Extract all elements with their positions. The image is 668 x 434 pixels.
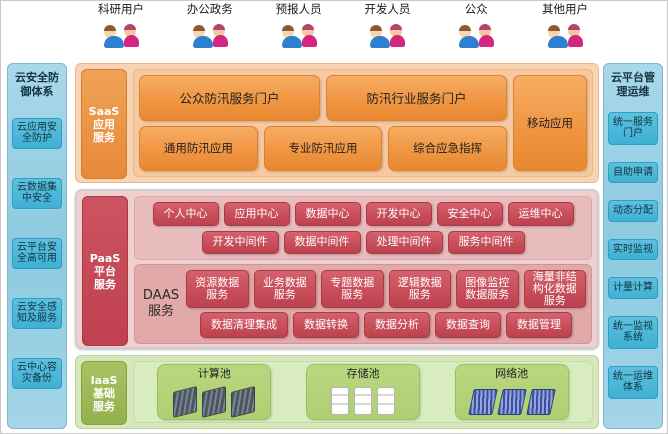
paas-middleware-development[interactable]: 开发中间件: [202, 231, 279, 255]
daas-service-image-monitor[interactable]: 图像监控数据服务: [456, 270, 519, 308]
paas-center-personal[interactable]: 个人中心: [153, 202, 219, 226]
paas-middleware-service[interactable]: 服务中间件: [448, 231, 525, 255]
user-role-label: 其他用户: [542, 3, 588, 16]
cloud-management-item[interactable]: 统一服务门户: [608, 112, 658, 145]
daas-op-management[interactable]: 数据管理: [506, 312, 572, 338]
cloud-security-item[interactable]: 云数据集中安全: [12, 178, 62, 209]
cloud-management-item-list: 统一服务门户 自助申请 动态分配 实时监视 计量计算 统一监视系统 统一运维体系: [608, 103, 658, 407]
server-rack-icon: [231, 386, 255, 418]
daas-op-transform[interactable]: 数据转换: [293, 312, 359, 338]
saas-content: 公众防汛服务门户 防汛行业服务门户 通用防汛应用 专业防汛应用 综合应急指挥 移…: [133, 69, 593, 177]
iaas-label-line2: 基础: [93, 387, 115, 400]
paas-platform-section: 个人中心 应用中心 数据中心 开发中心 安全中心 运维中心 开发中间件 数据中间…: [134, 196, 592, 260]
cloud-security-item[interactable]: 云中心容灾备份: [12, 358, 62, 389]
iaas-layer: IaaS 基础 服务 计算池 存储池: [75, 355, 599, 429]
paas-middleware-data[interactable]: 数据中间件: [284, 231, 361, 255]
cloud-management-panel-title: 云平台管理运维: [608, 68, 658, 103]
iaas-layer-label: IaaS 基础 服务: [81, 361, 127, 425]
users-pair-icon: [101, 18, 141, 48]
saas-label-line1: SaaS: [89, 105, 120, 118]
saas-app-emergency[interactable]: 综合应急指挥: [388, 126, 507, 172]
storage-pool-label: 存储池: [346, 365, 379, 381]
daas-op-analysis[interactable]: 数据分析: [364, 312, 430, 338]
disk-storage-icon: [354, 387, 372, 415]
server-rack-icon: [173, 386, 197, 418]
network-pool-label: 网络池: [495, 365, 528, 381]
server-rack-icon: [202, 386, 226, 418]
user-role-item: 科研用户: [79, 3, 163, 48]
paas-center-development[interactable]: 开发中心: [366, 202, 432, 226]
user-role-item: 开发人员: [345, 3, 429, 48]
paas-center-data[interactable]: 数据中心: [295, 202, 361, 226]
disk-storage-icon: [331, 387, 349, 415]
daas-op-cleaning[interactable]: 数据清理集成: [200, 312, 288, 338]
users-pair-icon: [545, 18, 585, 48]
users-pair-icon: [279, 18, 319, 48]
network-pool-icons: [471, 381, 553, 415]
paas-label-line3: 服务: [94, 278, 116, 291]
daas-section: DAAS 服务 资源数据服务 业务数据服务 专题数据服务 逻辑数据服务 图像监控…: [134, 264, 592, 344]
saas-layer: SaaS 应用 服务 公众防汛服务门户 防汛行业服务门户 通用防汛应用 专业防汛…: [75, 63, 599, 183]
daas-operation-row: 数据清理集成 数据转换 数据分析 数据查询 数据管理: [186, 312, 586, 338]
compute-pool[interactable]: 计算池: [157, 364, 271, 420]
daas-service-resource[interactable]: 资源数据服务: [186, 270, 249, 308]
daas-service-row: 资源数据服务 业务数据服务 专题数据服务 逻辑数据服务 图像监控数据服务 海量非…: [186, 270, 586, 308]
cloud-security-panel: 云安全防御体系 云应用安全防护 云数据集中安全 云平台安全高可用 云安全感知及服…: [7, 63, 67, 429]
iaas-label-line3: 服务: [93, 400, 115, 413]
paas-layer: PaaS 平台 服务 个人中心 应用中心 数据中心 开发中心 安全中心 运维中心…: [75, 189, 599, 349]
cloud-management-panel: 云平台管理运维 统一服务门户 自助申请 动态分配 实时监视 计量计算 统一监视系…: [603, 63, 663, 429]
saas-portal-row: 公众防汛服务门户 防汛行业服务门户: [139, 75, 507, 121]
saas-label-line3: 服务: [93, 131, 115, 144]
cloud-security-item-list: 云应用安全防护 云数据集中安全 云平台安全高可用 云安全感知及服务 云中心容灾备…: [12, 103, 62, 403]
paas-layer-label: PaaS 平台 服务: [82, 196, 128, 346]
architecture-diagram: 科研用户 办公政务 预报人员 开发人员: [0, 0, 668, 434]
paas-center-application[interactable]: 应用中心: [224, 202, 290, 226]
network-switch-icon: [497, 389, 527, 415]
saas-application-row: 通用防汛应用 专业防汛应用 综合应急指挥: [139, 126, 507, 172]
daas-content: 资源数据服务 业务数据服务 专题数据服务 逻辑数据服务 图像监控数据服务 海量非…: [186, 270, 586, 338]
paas-center-row: 个人中心 应用中心 数据中心 开发中心 安全中心 运维中心: [140, 202, 586, 226]
paas-center-security[interactable]: 安全中心: [437, 202, 503, 226]
users-pair-icon: [367, 18, 407, 48]
daas-service-logical[interactable]: 逻辑数据服务: [389, 270, 452, 308]
user-role-label: 预报人员: [276, 3, 322, 16]
saas-app-mobile[interactable]: 移动应用: [513, 75, 587, 171]
compute-pool-icons: [173, 381, 255, 415]
daas-service-unstructured[interactable]: 海量非结构化数据服务: [524, 270, 587, 308]
user-role-label: 公众: [465, 3, 488, 16]
daas-label-line2: 服务: [148, 304, 174, 320]
saas-app-general[interactable]: 通用防汛应用: [139, 126, 258, 172]
paas-label-line1: PaaS: [90, 252, 121, 265]
user-role-label: 办公政务: [187, 3, 233, 16]
cloud-management-item[interactable]: 动态分配: [608, 200, 658, 222]
users-pair-icon: [456, 18, 496, 48]
user-role-item: 办公政务: [168, 3, 252, 48]
saas-label-line2: 应用: [93, 118, 115, 131]
daas-label-line1: DAAS: [143, 288, 179, 304]
cloud-management-item[interactable]: 统一监视系统: [608, 316, 658, 349]
network-switch-icon: [468, 389, 498, 415]
users-pair-icon: [190, 18, 230, 48]
cloud-management-item[interactable]: 统一运维体系: [608, 366, 658, 399]
cloud-security-panel-title: 云安全防御体系: [12, 68, 62, 103]
user-role-row: 科研用户 办公政务 预报人员 开发人员: [79, 3, 607, 58]
saas-layer-label: SaaS 应用 服务: [81, 69, 127, 179]
daas-op-query[interactable]: 数据查询: [435, 312, 501, 338]
saas-portal-public[interactable]: 公众防汛服务门户: [139, 75, 320, 121]
user-role-item: 公众: [434, 3, 518, 48]
saas-portal-industry[interactable]: 防汛行业服务门户: [326, 75, 507, 121]
saas-application-grid: 公众防汛服务门户 防汛行业服务门户 通用防汛应用 专业防汛应用 综合应急指挥: [139, 75, 507, 171]
user-role-item: 预报人员: [257, 3, 341, 48]
paas-center-operations[interactable]: 运维中心: [508, 202, 574, 226]
network-pool[interactable]: 网络池: [455, 364, 569, 420]
cloud-security-item[interactable]: 云安全感知及服务: [12, 298, 62, 329]
daas-service-thematic[interactable]: 专题数据服务: [321, 270, 384, 308]
daas-section-label: DAAS 服务: [140, 270, 182, 338]
iaas-label-line1: IaaS: [91, 374, 118, 387]
saas-app-professional[interactable]: 专业防汛应用: [264, 126, 383, 172]
user-role-label: 开发人员: [364, 3, 410, 16]
network-switch-icon: [526, 389, 556, 415]
iaas-content: 计算池 存储池 网络池: [133, 361, 593, 423]
daas-service-business[interactable]: 业务数据服务: [254, 270, 317, 308]
cloud-management-item[interactable]: 自助申请: [608, 162, 658, 184]
cloud-management-item[interactable]: 实时监视: [608, 239, 658, 261]
paas-label-line2: 平台: [94, 265, 116, 278]
cloud-management-item[interactable]: 计量计算: [608, 277, 658, 299]
cloud-security-item[interactable]: 云应用安全防护: [12, 118, 62, 149]
paas-middleware-row: 开发中间件 数据中间件 处理中间件 服务中间件: [140, 231, 586, 255]
paas-middleware-processing[interactable]: 处理中间件: [366, 231, 443, 255]
compute-pool-label: 计算池: [198, 365, 231, 381]
storage-pool[interactable]: 存储池: [306, 364, 420, 420]
disk-storage-icon: [377, 387, 395, 415]
cloud-security-item[interactable]: 云平台安全高可用: [12, 238, 62, 269]
user-role-label: 科研用户: [98, 3, 144, 16]
storage-pool-icons: [331, 381, 395, 415]
user-role-item: 其他用户: [523, 3, 607, 48]
paas-content: 个人中心 应用中心 数据中心 开发中心 安全中心 运维中心 开发中间件 数据中间…: [134, 196, 592, 344]
